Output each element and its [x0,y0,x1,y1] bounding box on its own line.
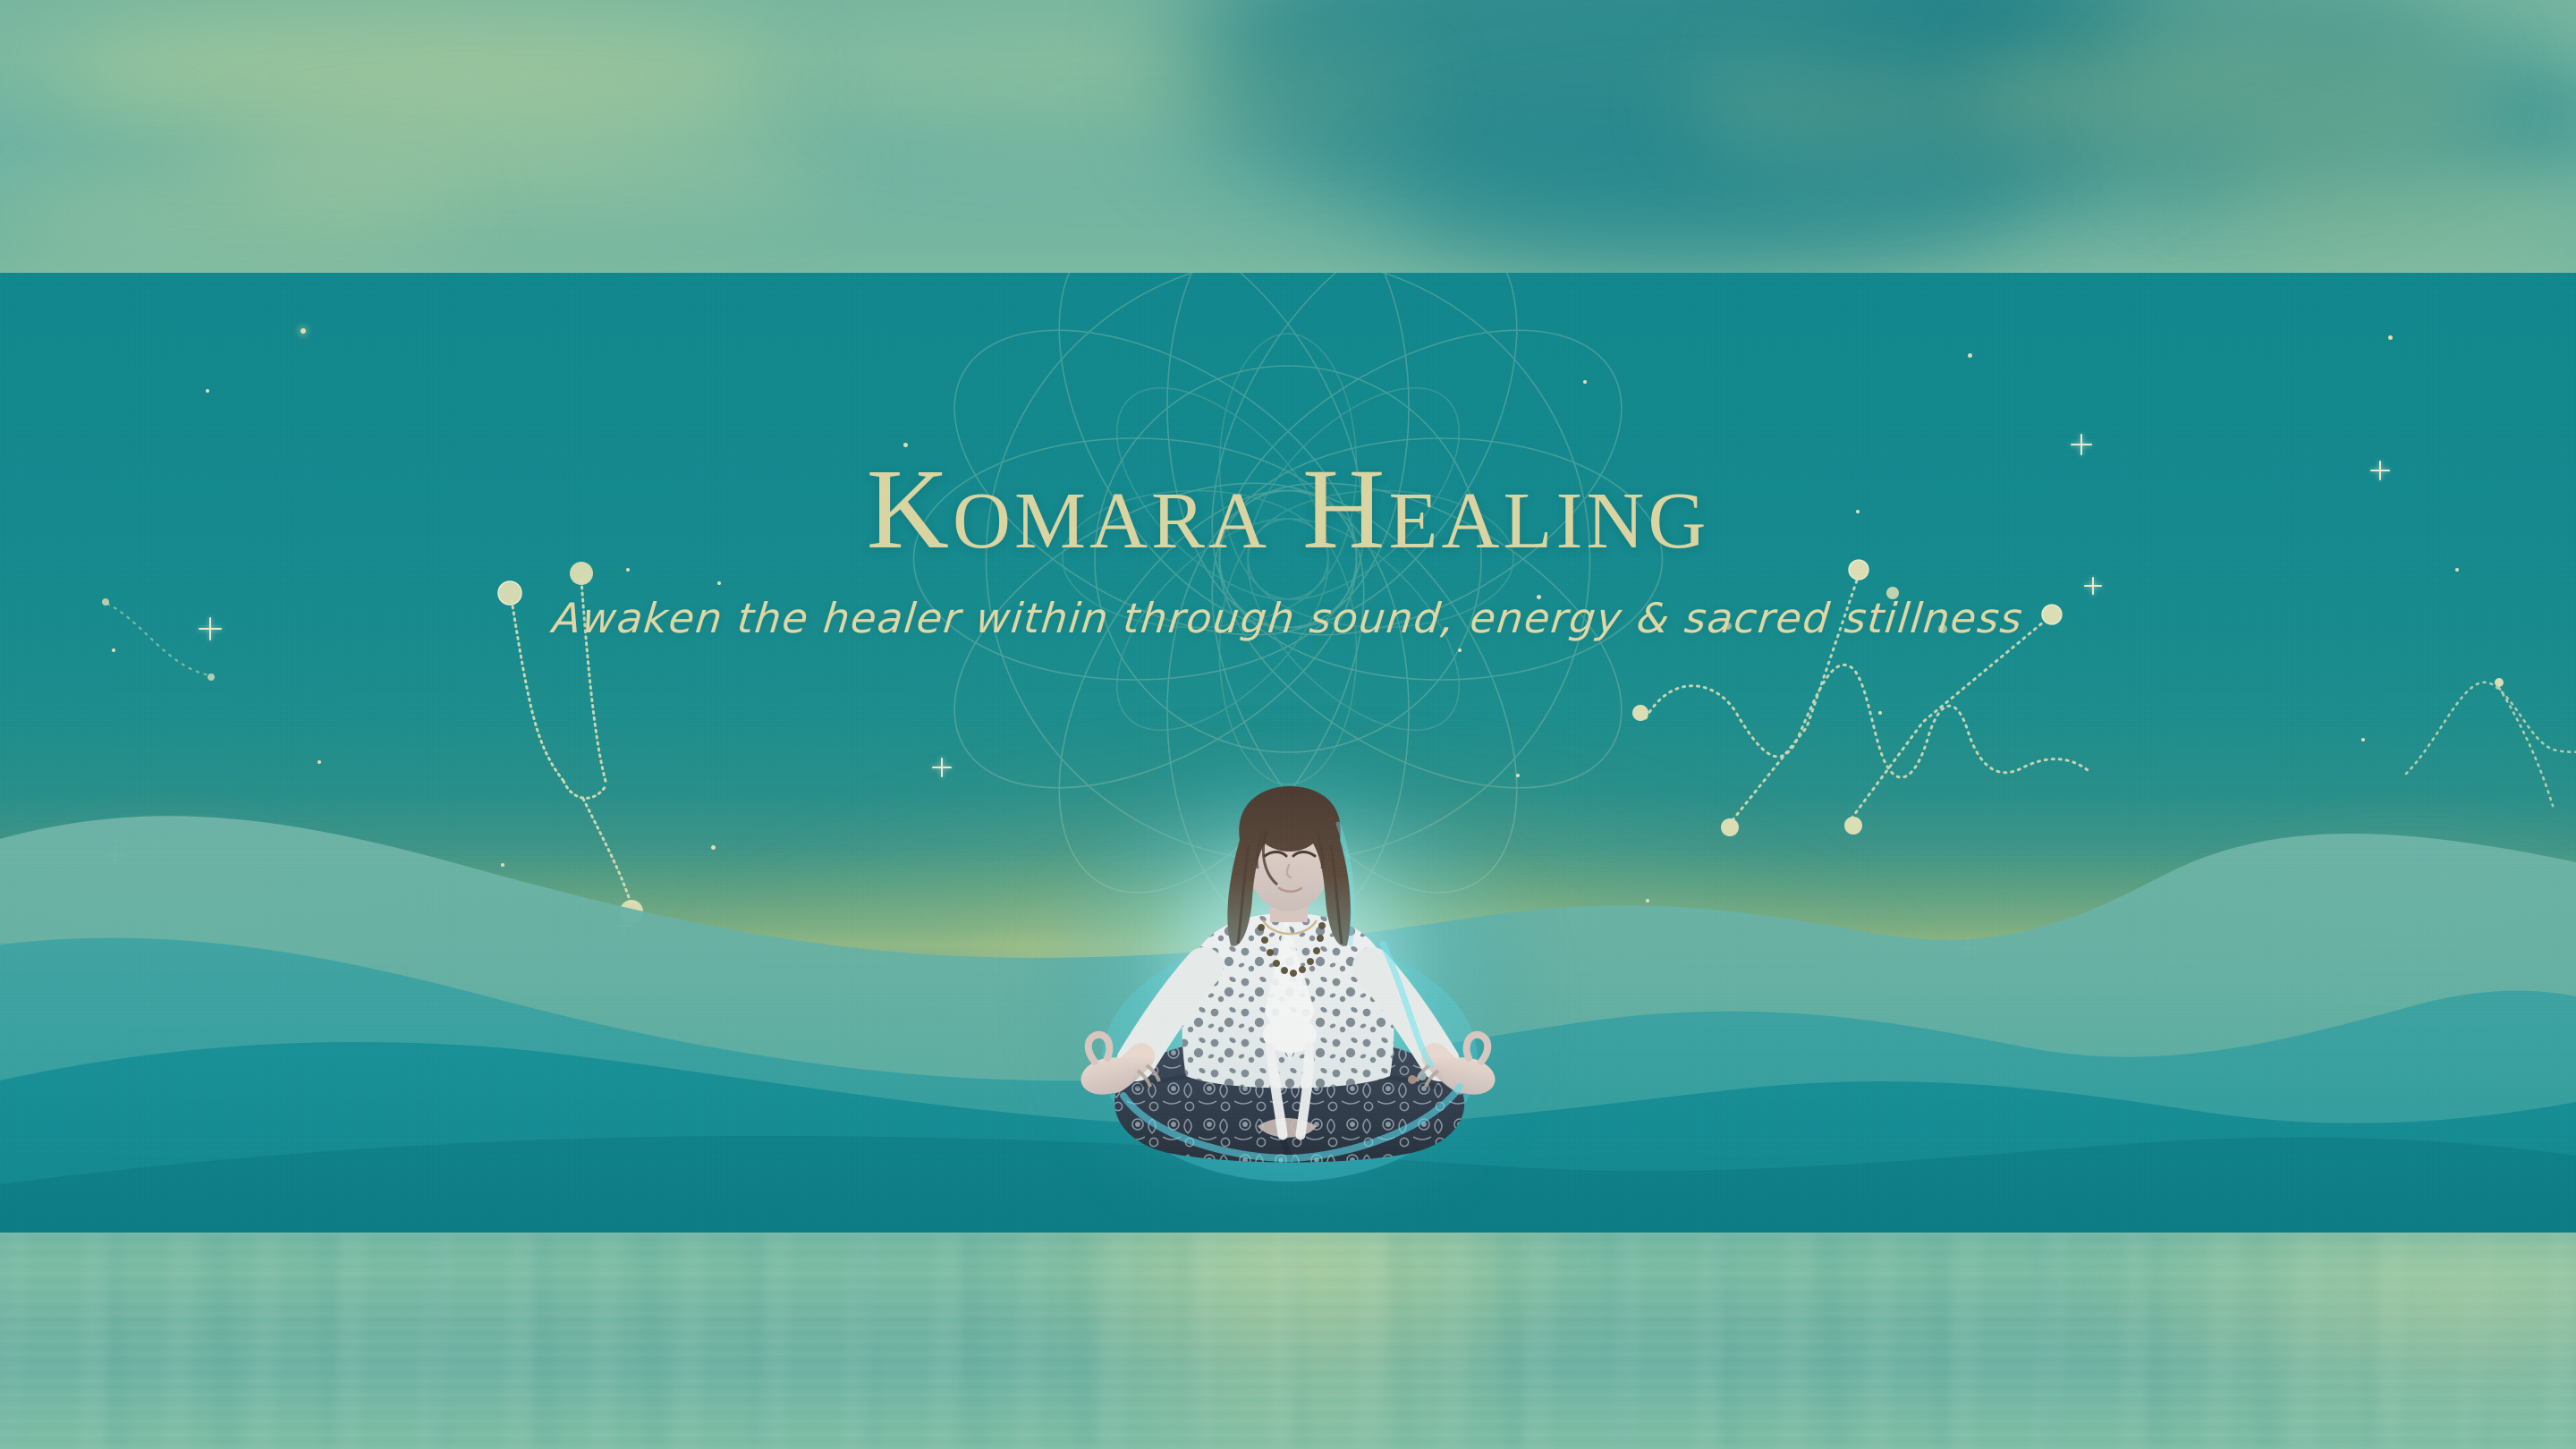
cloud-shape [1181,0,2165,233]
sparkle-icon [2071,434,2092,455]
star-dot [1537,595,1541,599]
cloud-shape [54,9,787,143]
brand-title-block: Komara Healing Awaken the healer within … [0,452,2576,640]
brand-tagline: Awaken the healer within through sound, … [0,597,2576,640]
sparkle-icon [199,617,222,640]
star-dot [903,443,908,447]
star-dot [301,328,306,334]
meditating-woman-lotus-icon [1055,792,1521,1212]
cloud-shape [215,116,841,215]
star-dot [1968,353,1972,358]
star-dot [1583,380,1587,384]
star-dot [206,389,209,393]
star-dot [1458,648,1462,652]
star-dot [112,648,115,652]
banner-bottom-band [0,1200,2576,1233]
cloud-shape [1986,18,2487,170]
cloud-shape [2129,27,2576,206]
meditating-figure [1055,792,1521,1212]
star-dot [2455,568,2459,572]
sparkle-icon [2370,461,2390,480]
small-constellation-icon [89,568,250,747]
water-ripple-texture [0,1233,2576,1449]
hero-banner-overlay: Komara Healing Awaken the healer within … [0,273,2576,1233]
cloud-shape [0,174,465,255]
cloud-shape [805,36,1431,143]
cloud-shape [1771,0,2451,188]
star-dot [717,581,721,585]
banner-canvas: Komara Healing Awaken the healer within … [0,0,2576,1449]
cloud-shape [1682,54,2057,161]
star-dot [1878,711,1882,715]
star-dot [2388,335,2393,340]
cloud-shape [2218,152,2576,250]
star-dot [626,568,630,572]
sparkle-icon [2084,577,2102,595]
lake-water-reflection [0,1233,2576,1449]
page-title: Komara Healing [0,452,2576,566]
cloud-shape [1395,125,2021,277]
star-dot [1856,510,1860,513]
